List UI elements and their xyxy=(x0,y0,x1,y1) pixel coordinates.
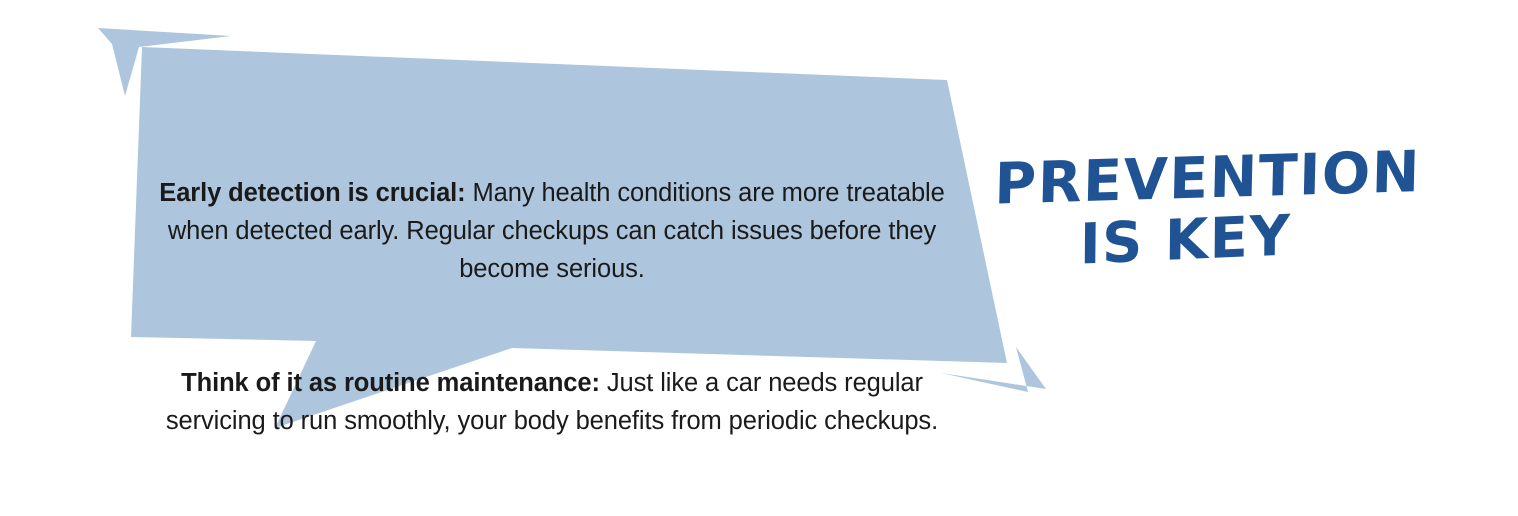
callout-paragraph-1: Early detection is crucial: Many health … xyxy=(152,174,952,288)
callout-paragraph-2: Think of it as routine maintenance: Just… xyxy=(152,364,952,440)
callout-lead-1: Early detection is crucial: xyxy=(159,179,465,207)
callout-lead-2: Think of it as routine maintenance: xyxy=(181,369,600,397)
headline: PREVENTION IS KEY xyxy=(994,144,1376,275)
callout-body-text: Early detection is crucial: Many health … xyxy=(152,98,952,516)
slide-canvas: Early detection is crucial: Many health … xyxy=(0,0,1518,454)
